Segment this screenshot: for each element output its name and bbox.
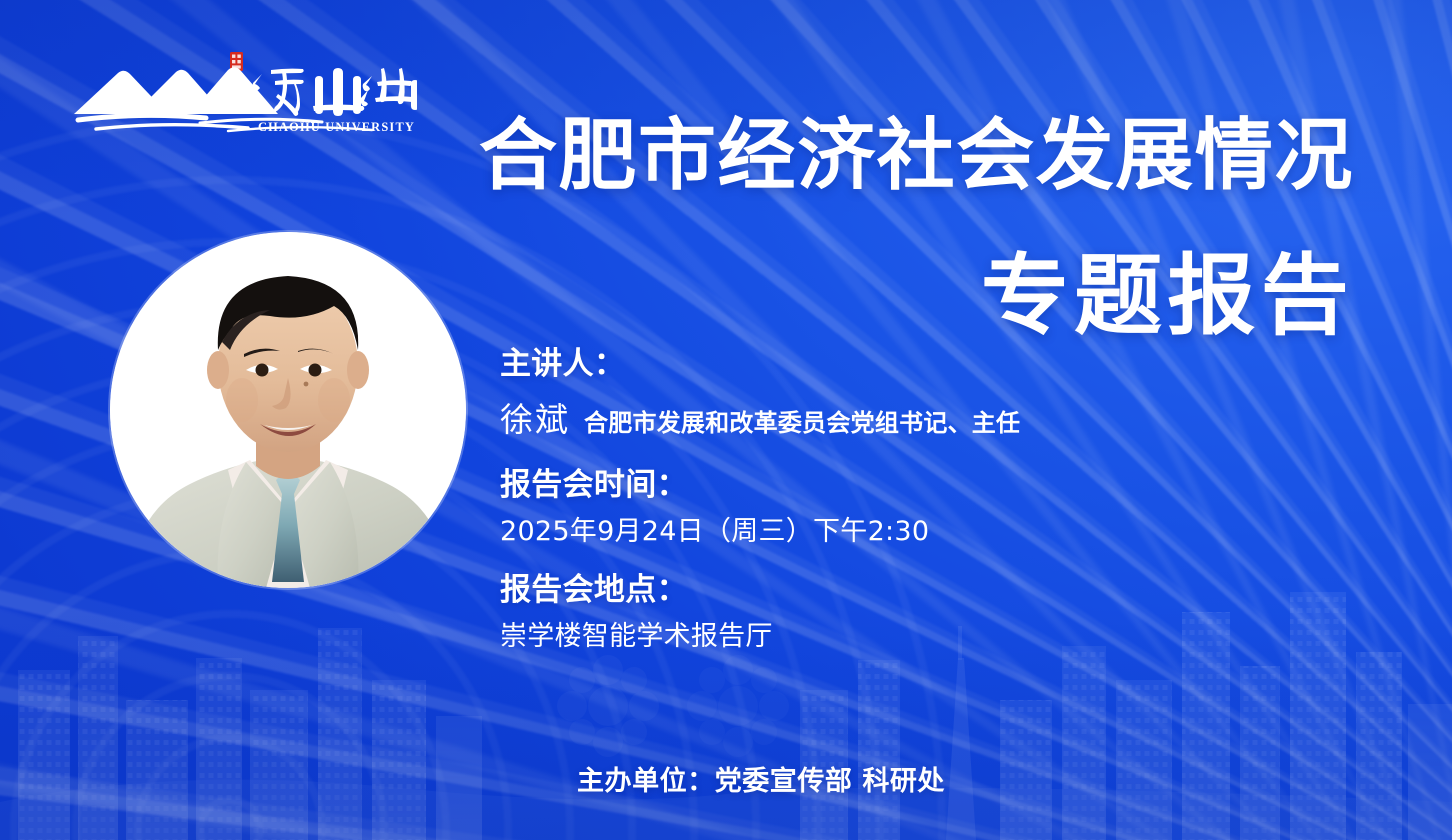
organizers-footer: 主办单位：党委宣传部 科研处 — [0, 759, 1452, 798]
place-label: 报告会地点： — [500, 568, 1260, 613]
speaker-portrait-avatar — [110, 232, 466, 588]
speaker-name: 徐斌 — [500, 393, 570, 441]
event-poster: CHAOHU UNIVERSITY — [0, 0, 1452, 840]
time-value: 2025年9月24日（周三）下午2:30 — [500, 512, 1260, 553]
time-label: 报告会时间： — [500, 463, 1260, 508]
speaker-row: 徐斌 合肥市发展和改革委员会党组书记、主任 — [500, 393, 1260, 441]
place-value: 崇学楼智能学术报告厅 — [500, 617, 1260, 658]
speaker-title: 合肥市发展和改革委员会党组书记、主任 — [584, 403, 1020, 438]
organizers-text: 主办单位：党委宣传部 科研处 — [507, 759, 945, 798]
poster-title-line-2: 专题报告 — [981, 248, 1354, 344]
chaohu-university-forum-logo: CHAOHU UNIVERSITY — [72, 50, 417, 142]
poster-title-line-1: 合肥市经济社会发展情况 — [479, 113, 1354, 199]
svg-text:CHAOHU UNIVERSITY: CHAOHU UNIVERSITY — [258, 120, 415, 134]
mountain-icon — [74, 67, 278, 114]
event-info-block: 主讲人： 徐斌 合肥市发展和改革委员会党组书记、主任 报告会时间： 2025年9… — [500, 342, 1260, 658]
speaker-label: 主讲人： — [500, 342, 1260, 387]
